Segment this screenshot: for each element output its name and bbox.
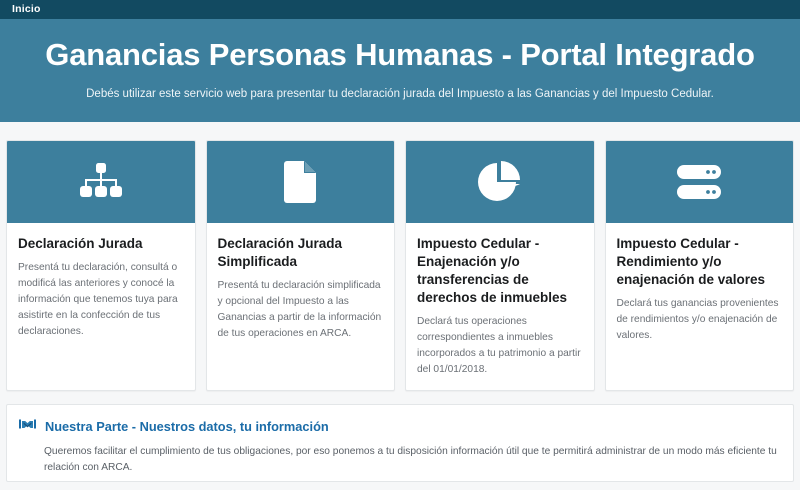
nav-item-inicio[interactable]: Inicio <box>12 0 41 19</box>
page-title: Ganancias Personas Humanas - Portal Inte… <box>0 35 800 75</box>
handshake-icon <box>19 417 36 437</box>
card-description: Presentá tu declaración, consultá o modi… <box>18 260 184 340</box>
page-subtitle: Debés utilizar este servicio web para pr… <box>0 87 800 102</box>
card-body: Impuesto Cedular - Rendimiento y/o enaje… <box>606 223 794 354</box>
hero-banner: Ganancias Personas Humanas - Portal Inte… <box>0 19 800 122</box>
panel-title[interactable]: Nuestra Parte - Nuestros datos, tu infor… <box>45 419 329 435</box>
card-icon-header <box>606 141 794 223</box>
server-icon <box>676 163 722 201</box>
card-title: Impuesto Cedular - Enajenación y/o trans… <box>417 235 583 307</box>
pie-chart-icon <box>478 161 522 203</box>
panel-header: Nuestra Parte - Nuestros datos, tu infor… <box>19 417 779 437</box>
card-description: Declará tus operaciones correspondientes… <box>417 314 583 378</box>
sitemap-icon <box>79 162 123 202</box>
card-declaracion-jurada-simplificada[interactable]: Declaración Jurada Simplificada Presentá… <box>206 140 396 391</box>
card-title: Declaración Jurada Simplificada <box>218 235 384 271</box>
card-impuesto-cedular-inmuebles[interactable]: Impuesto Cedular - Enajenación y/o trans… <box>405 140 595 391</box>
page-root: Inicio Ganancias Personas Humanas - Port… <box>0 0 800 490</box>
card-description: Declará tus ganancias provenientes de re… <box>617 296 783 344</box>
card-body: Impuesto Cedular - Enajenación y/o trans… <box>406 223 594 388</box>
card-impuesto-cedular-valores[interactable]: Impuesto Cedular - Rendimiento y/o enaje… <box>605 140 795 391</box>
top-navigation-bar: Inicio <box>0 0 800 19</box>
card-body: Declaración Jurada Presentá tu declaraci… <box>7 223 195 350</box>
card-description: Presentá tu declaración simplificada y o… <box>218 278 384 342</box>
nuestra-parte-panel[interactable]: Nuestra Parte - Nuestros datos, tu infor… <box>6 404 794 482</box>
card-body: Declaración Jurada Simplificada Presentá… <box>207 223 395 352</box>
card-title: Impuesto Cedular - Rendimiento y/o enaje… <box>617 235 783 289</box>
document-icon <box>284 161 316 203</box>
card-icon-header <box>207 141 395 223</box>
card-icon-header <box>7 141 195 223</box>
card-grid: Declaración Jurada Presentá tu declaraci… <box>0 122 800 391</box>
panel-description: Queremos facilitar el cumplimiento de tu… <box>19 444 779 476</box>
card-title: Declaración Jurada <box>18 235 184 253</box>
card-declaracion-jurada[interactable]: Declaración Jurada Presentá tu declaraci… <box>6 140 196 391</box>
card-icon-header <box>406 141 594 223</box>
